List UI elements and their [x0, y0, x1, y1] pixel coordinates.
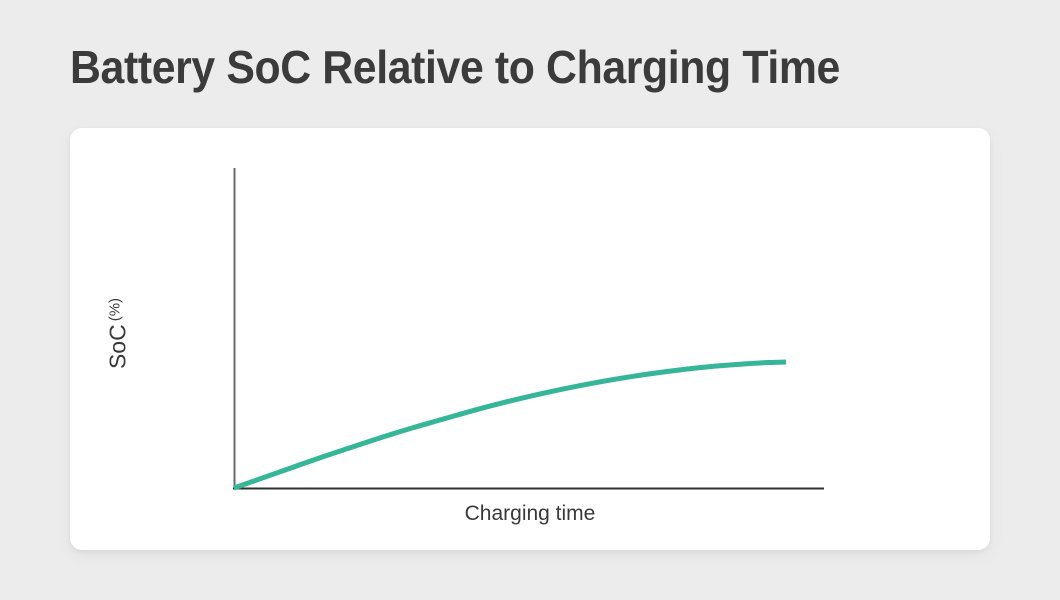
x-axis-label: Charging time	[70, 502, 990, 526]
soc-line-chart-svg	[70, 128, 990, 550]
page-title: Battery SoC Relative to Charging Time	[70, 38, 840, 96]
y-axis-label-main: SoC	[105, 324, 131, 369]
chart-card: Charging time SoC(%)	[70, 128, 990, 550]
soc-curve-line	[234, 362, 786, 488]
chart-plot-area: Charging time SoC(%)	[70, 128, 990, 550]
y-axis-label: SoC(%)	[105, 104, 132, 564]
y-axis-label-unit: (%)	[107, 298, 124, 321]
